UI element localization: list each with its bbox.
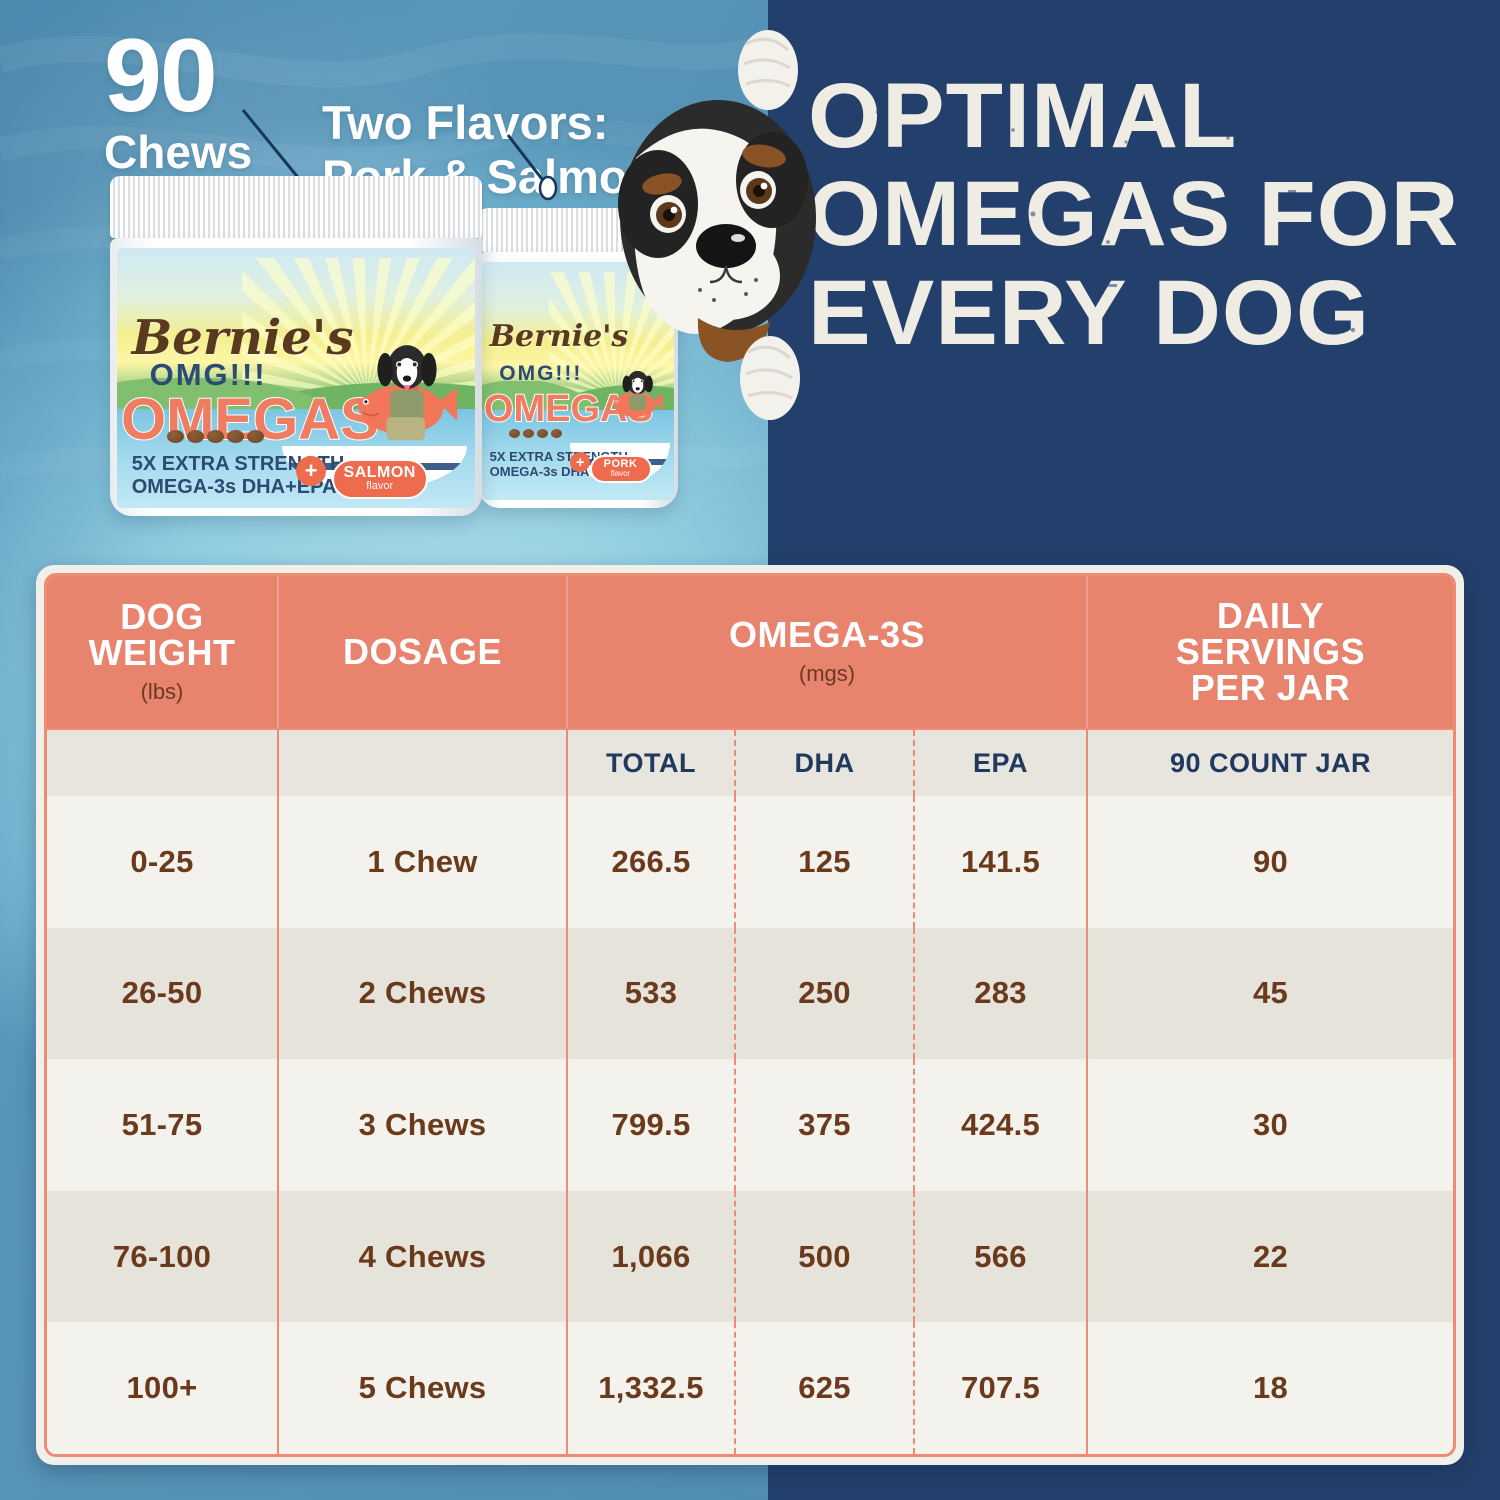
cell-dosage: 2 Chews: [279, 928, 568, 1060]
cell-omega-epa: 707.5: [913, 1322, 1088, 1454]
headline-line-2: Omegas for: [808, 170, 1500, 258]
chew-pieces-decoration: [509, 429, 562, 438]
cell-daily-servings: 90: [1088, 796, 1453, 928]
chew-piece: [523, 429, 534, 438]
cell-omega-epa: 283: [913, 928, 1088, 1060]
jar-body: Bernie's OMG!!! OMEGAS 5X EXTRA STRENGTH…: [110, 238, 482, 516]
cell-daily-servings: 30: [1088, 1059, 1453, 1191]
subheader-count-jar: 90 COUNT JAR: [1088, 730, 1453, 796]
jar-label: Bernie's OMG!!! OMEGAS 5X EXTRA STRENGTH…: [117, 248, 474, 508]
cell-omega-dha: 375: [734, 1059, 913, 1191]
header-omega3s-label: OMEGA-3S: [729, 617, 925, 653]
table-header-row: DOG WEIGHT (lbs) DOSAGE OMEGA-3S (mgs) D…: [47, 576, 1453, 728]
cell-dog-weight: 76-100: [47, 1191, 279, 1323]
cell-omega-total: 799.5: [568, 1059, 734, 1191]
jar-omg-text: OMG!!!: [499, 362, 582, 386]
flavor-badge-sub: flavor: [611, 470, 631, 478]
cell-dog-weight: 51-75: [47, 1059, 279, 1191]
chew-piece: [167, 430, 184, 443]
chew-piece: [247, 430, 264, 443]
page-headline: Optimal Omegas for Every Dog: [808, 72, 1500, 357]
table-row: 26-50 2 Chews 533 250 283 45: [47, 928, 1453, 1060]
header-dog-weight-unit: (lbs): [141, 679, 184, 705]
subheader-dosage-spacer: [279, 730, 568, 796]
subheader-weight-spacer: [47, 730, 279, 796]
cell-dosage: 3 Chews: [279, 1059, 568, 1191]
dog-paw-bottom: [740, 336, 800, 420]
cell-omega-epa: 424.5: [913, 1059, 1088, 1191]
label-dog-illustration: [335, 316, 464, 477]
cell-dog-weight: 0-25: [47, 796, 279, 928]
cell-omega-dha: 625: [734, 1322, 913, 1454]
chew-piece: [509, 429, 520, 438]
table-row: 100+ 5 Chews 1,332.5 625 707.5 18: [47, 1322, 1453, 1454]
cell-dosage: 5 Chews: [279, 1322, 568, 1454]
cell-omega-total: 1,066: [568, 1191, 734, 1323]
flavor-badge-sub: flavor: [366, 481, 393, 492]
cell-omega-dha: 500: [734, 1191, 913, 1323]
cell-daily-servings: 45: [1088, 928, 1453, 1060]
table-subheader-row: TOTAL DHA EPA 90 COUNT JAR: [47, 728, 1453, 796]
cell-omega-epa: 566: [913, 1191, 1088, 1323]
chew-piece: [207, 430, 224, 443]
chew-piece: [537, 429, 548, 438]
subheader-total: TOTAL: [568, 730, 734, 796]
cell-daily-servings: 22: [1088, 1191, 1453, 1323]
header-dog-weight-line-2: WEIGHT: [89, 635, 236, 671]
dosage-table-frame: DOG WEIGHT (lbs) DOSAGE OMEGA-3S (mgs) D…: [36, 565, 1464, 1465]
headline-line-1: Optimal: [808, 72, 1500, 160]
header-daily-line-1: DAILY: [1176, 598, 1365, 634]
subheader-dha: DHA: [734, 730, 913, 796]
cell-daily-servings: 18: [1088, 1322, 1453, 1454]
header-dog-weight-line-1: DOG: [89, 599, 236, 635]
jar-lid: [110, 176, 482, 238]
cell-dosage: 4 Chews: [279, 1191, 568, 1323]
header-dog-weight: DOG WEIGHT (lbs): [47, 576, 279, 728]
cell-dog-weight: 26-50: [47, 928, 279, 1060]
product-jar-salmon: Bernie's OMG!!! OMEGAS 5X EXTRA STRENGTH…: [110, 176, 482, 516]
chew-piece: [187, 430, 204, 443]
cell-omega-dha: 125: [734, 796, 913, 928]
peeking-dog-illustration: [600, 8, 840, 448]
chew-piece: [551, 429, 562, 438]
table-row: 0-25 1 Chew 266.5 125 141.5 90: [47, 796, 1453, 928]
table-row: 51-75 3 Chews 799.5 375 424.5 30: [47, 1059, 1453, 1191]
table-body: 0-25 1 Chew 266.5 125 141.5 90 26-50 2 C…: [47, 796, 1453, 1454]
cell-omega-total: 533: [568, 928, 734, 1060]
dog-head: [618, 100, 816, 362]
header-omega3s: OMEGA-3S (mgs): [568, 576, 1088, 728]
header-daily-line-2: SERVINGS: [1176, 634, 1365, 670]
headline-line-3: Every Dog: [808, 269, 1500, 357]
chew-piece: [227, 430, 244, 443]
cell-omega-epa: 141.5: [913, 796, 1088, 928]
cell-dosage: 1 Chew: [279, 796, 568, 928]
cell-omega-total: 266.5: [568, 796, 734, 928]
subheader-epa: EPA: [913, 730, 1088, 796]
header-omega3s-unit: (mgs): [799, 661, 855, 687]
cell-omega-total: 1,332.5: [568, 1322, 734, 1454]
plus-badge-icon: +: [296, 456, 326, 486]
infographic-page: Optimal Omegas for Every Dog 90 Chews Tw…: [0, 0, 1500, 1500]
dosage-table: DOG WEIGHT (lbs) DOSAGE OMEGA-3S (mgs) D…: [44, 573, 1456, 1457]
header-daily-line-3: PER JAR: [1176, 670, 1365, 706]
header-daily-servings: DAILY SERVINGS PER JAR: [1088, 576, 1453, 728]
chew-pieces-decoration: [167, 430, 264, 443]
dog-paw-top: [738, 30, 798, 110]
cell-omega-dha: 250: [734, 928, 913, 1060]
cell-dog-weight: 100+: [47, 1322, 279, 1454]
table-row: 76-100 4 Chews 1,066 500 566 22: [47, 1191, 1453, 1323]
header-dosage-label: DOSAGE: [343, 634, 502, 670]
header-dosage: DOSAGE: [279, 576, 568, 728]
